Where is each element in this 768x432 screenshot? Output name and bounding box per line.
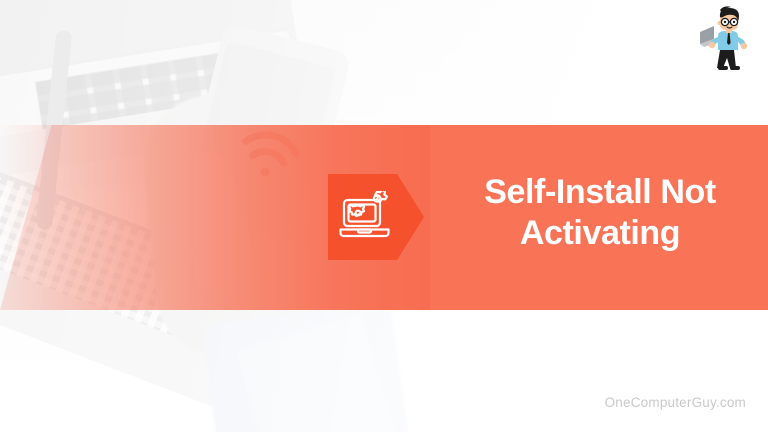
laptop-with-gears-icon: [339, 191, 395, 243]
feature-image-canvas: Self-Install Not Activating OneComputerG…: [0, 0, 768, 432]
site-watermark: OneComputerGuy.com: [605, 395, 746, 410]
onecomputerguy-mascot-logo: [698, 6, 756, 72]
page-title-line1: Self-Install Not: [452, 172, 748, 213]
page-title: Self-Install Not Activating: [452, 172, 748, 254]
page-title-line2: Activating: [452, 213, 748, 254]
